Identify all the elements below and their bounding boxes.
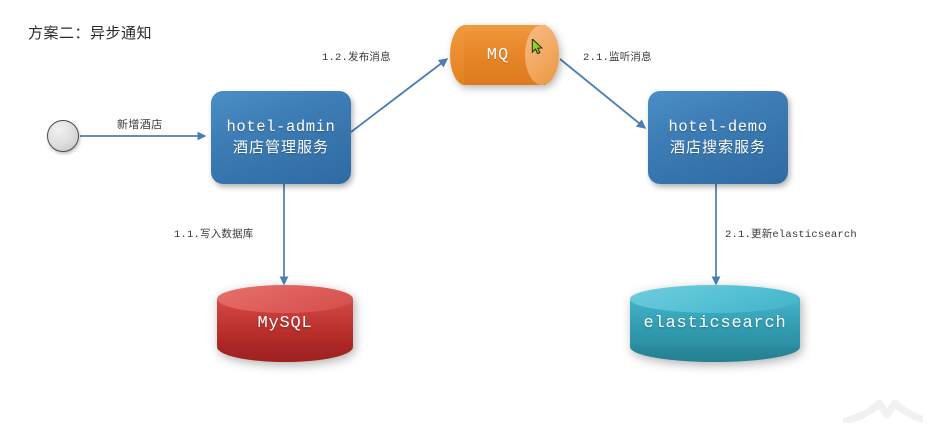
edge-label-admin-to-mysql: 1.1.写入数据库 — [174, 226, 254, 241]
hotel-admin-cn-label: 酒店管理服务 — [233, 137, 329, 158]
watermark-artifact — [843, 393, 923, 423]
node-hotel-admin[interactable]: hotel-admin 酒店管理服务 — [211, 91, 351, 184]
node-hotel-demo[interactable]: hotel-demo 酒店搜索服务 — [648, 91, 788, 184]
mysql-label: MySQL — [217, 285, 353, 362]
hotel-demo-cn-label: 酒店搜索服务 — [670, 137, 766, 158]
edge-label-demo-to-elasticsearch: 2.1.更新elasticsearch — [725, 226, 857, 241]
start-circle[interactable] — [47, 120, 79, 152]
edge-admin-to-mq — [351, 59, 447, 132]
cursor-arrow-icon — [531, 39, 543, 54]
node-elasticsearch[interactable]: elasticsearch — [630, 285, 800, 362]
mq-label: MQ — [450, 25, 546, 85]
edge-label-mq-to-demo: 2.1.监听消息 — [583, 49, 652, 64]
hotel-admin-latin-label: hotel-admin — [227, 117, 336, 138]
diagram-canvas: 方案二：异步通知 新增酒店 1.2.发布消息 2.1.监听消息 1.1.写入数据… — [0, 0, 929, 425]
elasticsearch-label: elasticsearch — [630, 285, 800, 362]
node-mysql[interactable]: MySQL — [217, 285, 353, 362]
edge-label-start-to-admin: 新增酒店 — [117, 116, 163, 132]
node-mq[interactable]: MQ — [450, 25, 560, 85]
edge-mq-to-demo — [560, 59, 645, 128]
hotel-demo-latin-label: hotel-demo — [668, 117, 767, 138]
edge-label-admin-to-mq: 1.2.发布消息 — [322, 49, 391, 64]
